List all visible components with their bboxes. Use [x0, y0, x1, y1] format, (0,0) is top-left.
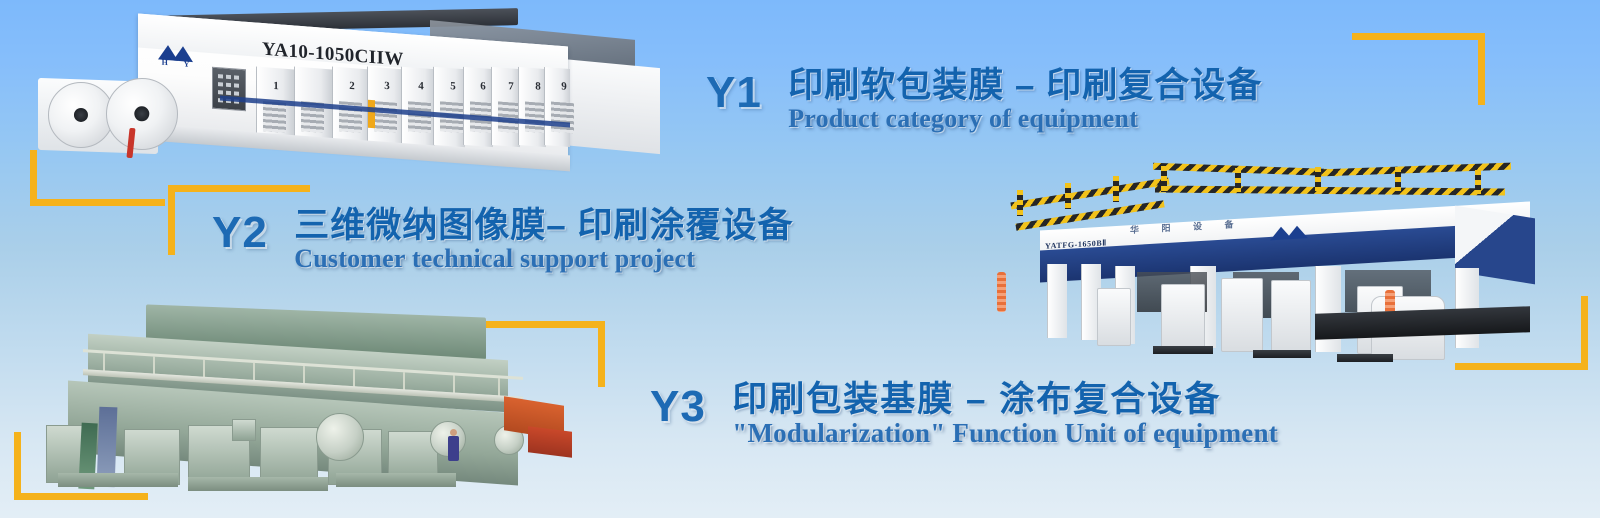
bracket-top-left-horizontal	[30, 199, 165, 206]
rail-post	[1065, 183, 1071, 209]
bracket-y2-horizontal	[168, 185, 310, 192]
winding-drum	[316, 413, 364, 461]
bracket-bottom-right-vertical	[1581, 296, 1588, 366]
entry-y2-title-cn: 三维微纳图像膜– 印刷涂覆设备	[294, 208, 793, 245]
machine-cabinet	[1271, 280, 1311, 352]
entry-y3-code: Y3	[650, 382, 706, 432]
control-box	[232, 419, 256, 441]
machine-cabinet	[1221, 278, 1263, 352]
entry-y1-title-cn: 印刷软包装膜 – 印刷复合设备	[788, 68, 1262, 105]
entry-y3: Y3 印刷包装基膜 – 涂布复合设备 "Modularization" Func…	[650, 382, 1278, 448]
print-unit: 7	[491, 67, 520, 147]
machine-foot	[1153, 346, 1213, 354]
print-unit: 5	[433, 67, 465, 147]
entry-y3-title-cn: 印刷包装基膜 – 涂布复合设备	[732, 382, 1278, 419]
machine-foot	[1253, 350, 1311, 358]
bracket-top-right-horizontal	[1352, 33, 1485, 40]
entry-y1: Y1 印刷软包装膜 – 印刷复合设备 Product category of e…	[706, 68, 1262, 133]
safety-rail	[1153, 163, 1338, 176]
entry-y2-title-en: Customer technical support project	[294, 245, 793, 274]
machine-foot	[1337, 354, 1393, 362]
machine-legs	[188, 477, 328, 491]
print-unit: 6	[463, 67, 493, 147]
rail-post	[1161, 166, 1167, 192]
bracket-bottom-right-horizontal	[1455, 363, 1588, 370]
entry-y2: Y2 三维微纳图像膜– 印刷涂覆设备 Customer technical su…	[212, 208, 793, 273]
material-roll	[48, 82, 114, 148]
rail-post	[1235, 168, 1241, 192]
hy-logo-icon: H Y	[158, 44, 200, 69]
entry-y1-title-en: Product category of equipment	[788, 105, 1262, 134]
cable-chain	[997, 272, 1006, 312]
machine-legs	[58, 473, 178, 487]
material-roll	[106, 78, 178, 150]
press-yellow-marker	[368, 100, 375, 128]
print-unit: 4	[401, 67, 435, 148]
support-column	[1047, 264, 1067, 338]
machine-legs	[336, 473, 456, 487]
rail-post	[1395, 167, 1401, 191]
entry-y2-code: Y2	[212, 208, 268, 258]
entry-y1-code: Y1	[706, 68, 762, 118]
bracket-top-right-vertical	[1478, 33, 1485, 105]
photo-rotogravure-printing-press: H Y YA10-1050CIIW 1 2 3 4 5 6 7 8	[30, 8, 590, 183]
press-control-panel	[212, 67, 246, 112]
print-unit: 8	[518, 67, 546, 147]
rail-post	[1315, 167, 1321, 191]
hy-logo-icon	[1270, 225, 1316, 244]
bracket-y2-vertical	[168, 185, 175, 255]
rail-post	[1017, 190, 1023, 216]
end-unit-red	[528, 426, 572, 457]
print-unit: 9	[544, 67, 570, 147]
entry-y2-text: 三维微纳图像膜– 印刷涂覆设备 Customer technical suppo…	[294, 208, 793, 273]
operator-figure	[448, 429, 459, 461]
bracket-bottom-left-horizontal	[14, 493, 148, 500]
safety-rail	[1155, 185, 1505, 195]
photo-base-film-coating-line	[28, 305, 576, 490]
entry-y3-title-en: "Modularization" Function Unit of equipm…	[732, 419, 1278, 449]
safety-rail	[1321, 163, 1511, 177]
rail-post	[1475, 170, 1481, 194]
entry-y1-text: 印刷软包装膜 – 印刷复合设备 Product category of equi…	[788, 68, 1262, 133]
bracket-y3-vertical	[598, 321, 605, 387]
rail-post	[1113, 176, 1119, 202]
entry-y3-text: 印刷包装基膜 – 涂布复合设备 "Modularization" Functio…	[732, 382, 1278, 448]
machine-cabinet	[1161, 284, 1205, 350]
machine-cabinet	[1097, 288, 1131, 346]
equipment-category-banner: H Y YA10-1050CIIW 1 2 3 4 5 6 7 8	[0, 0, 1600, 518]
bracket-bottom-left-vertical	[14, 432, 21, 500]
photo-dry-lamination-machine: 华 阳 设 备 YATFG-1650BⅡ	[985, 160, 1545, 360]
